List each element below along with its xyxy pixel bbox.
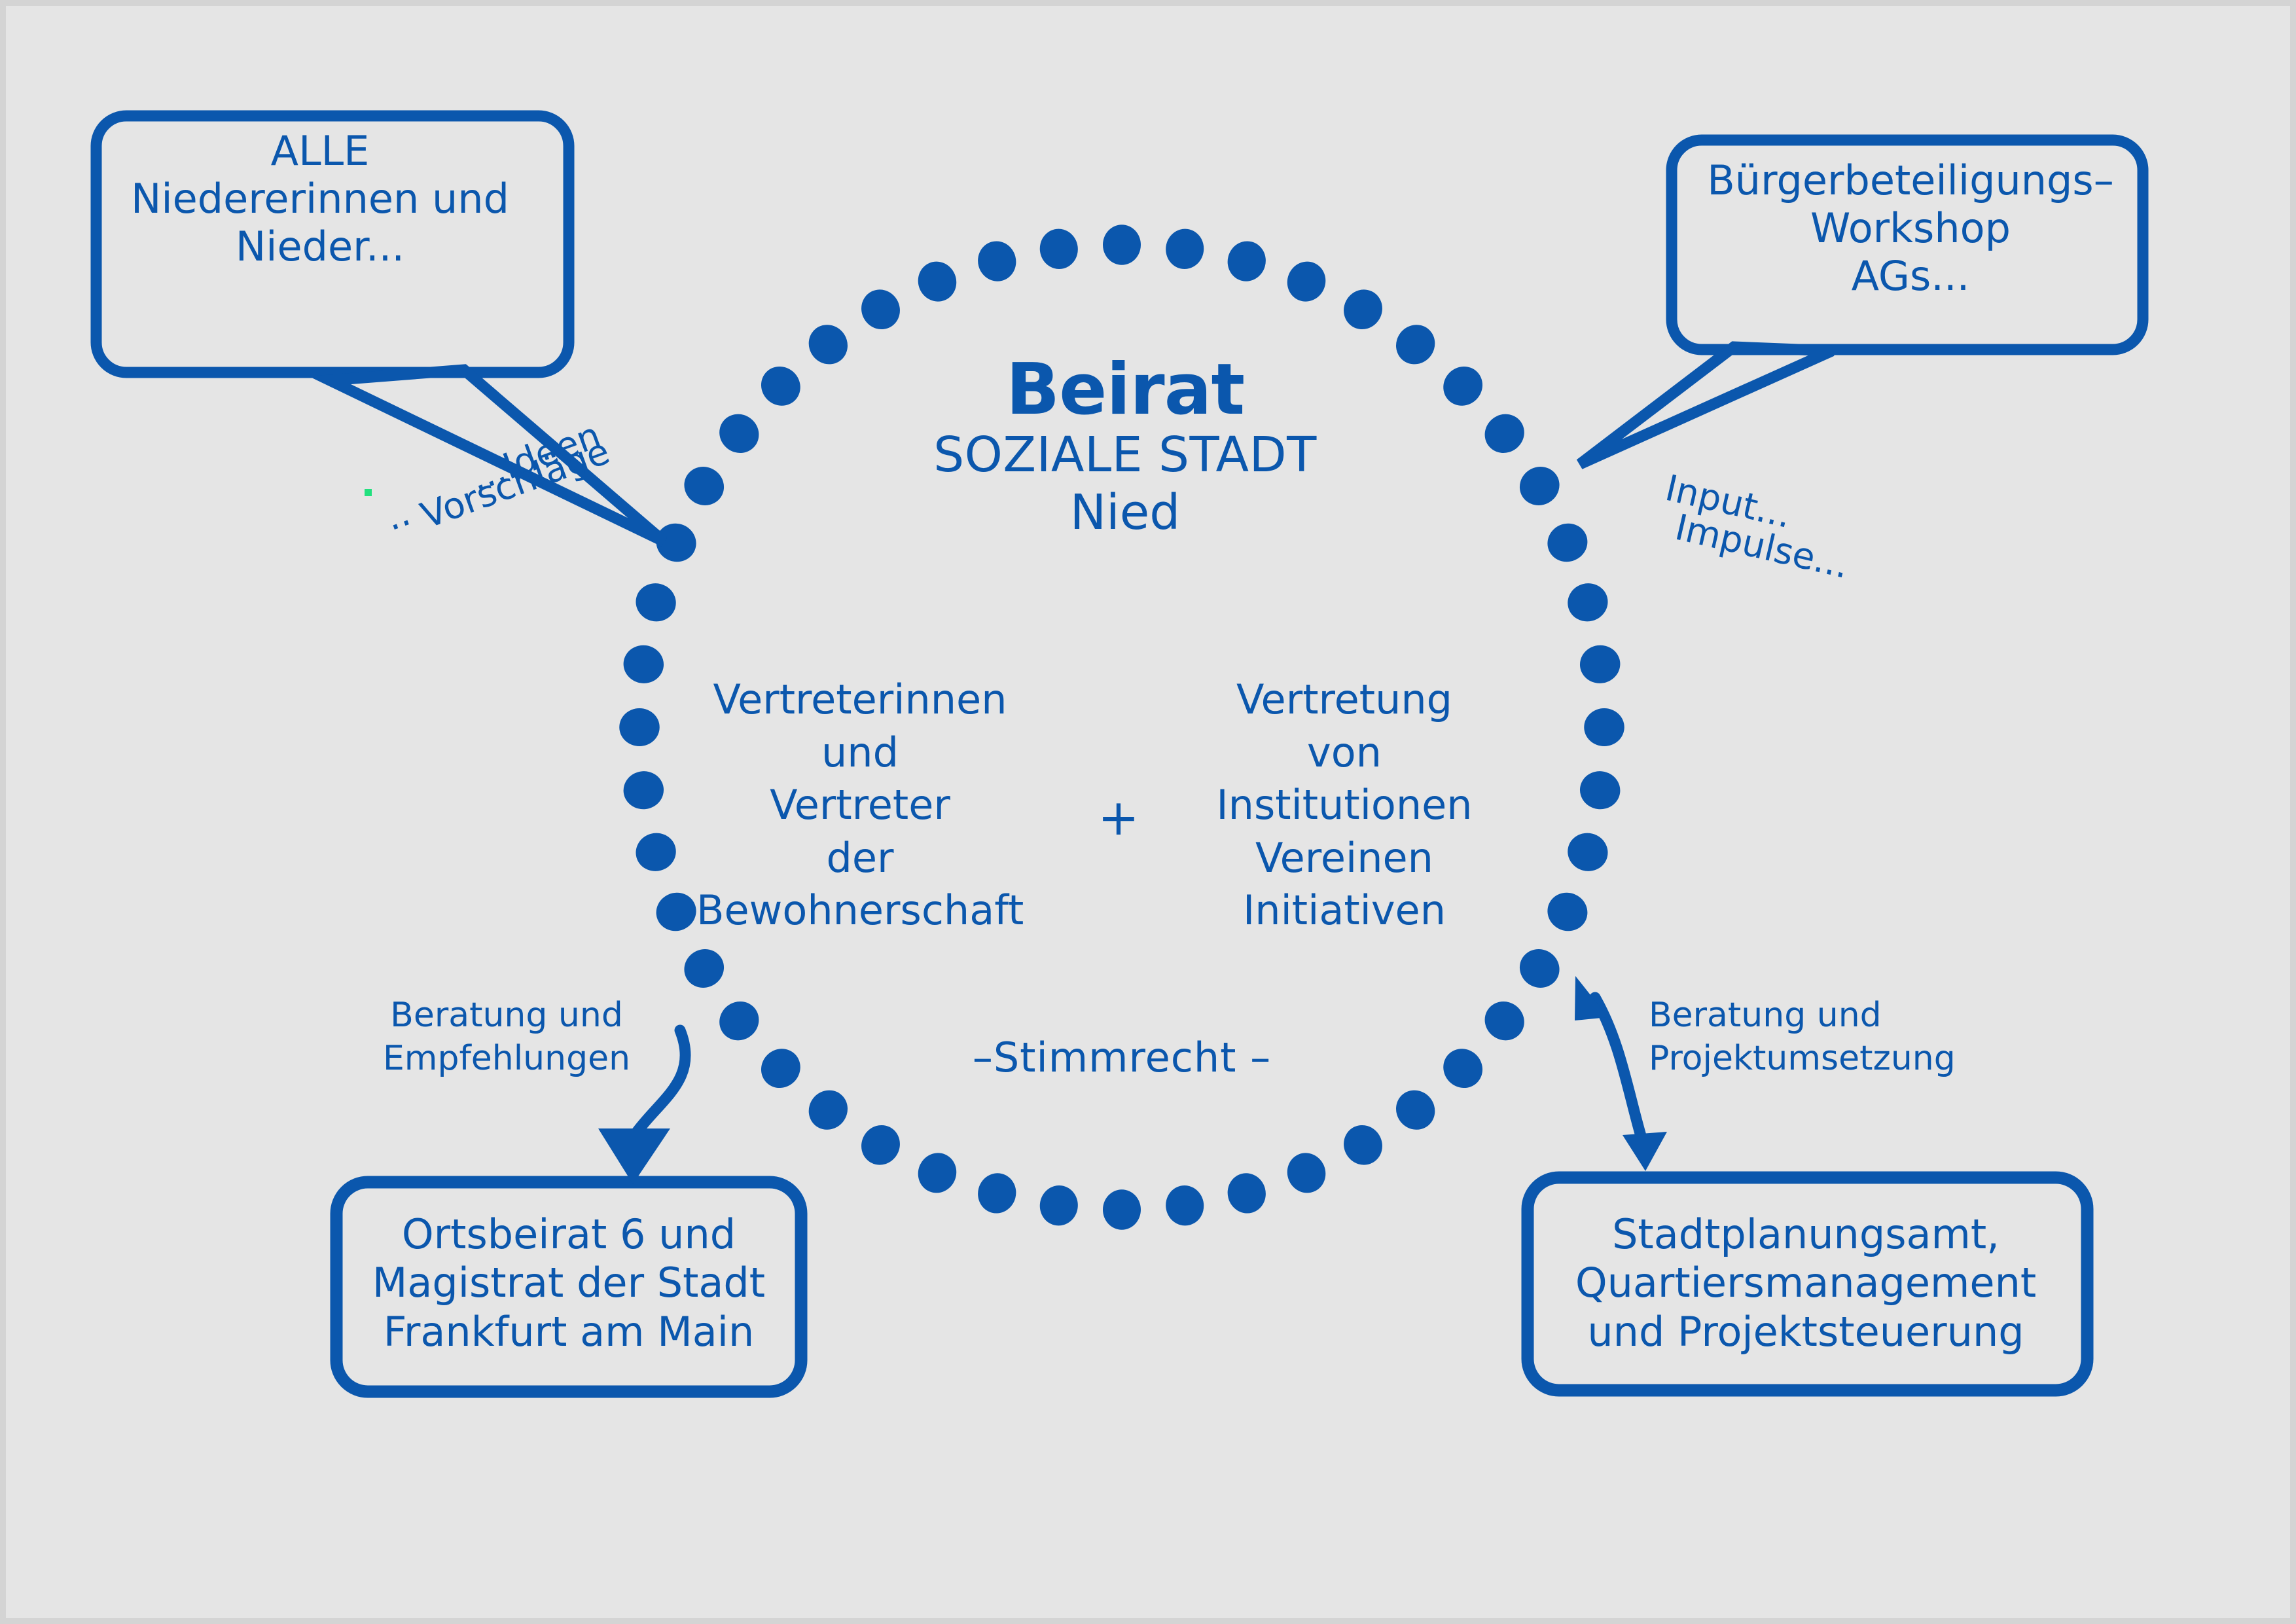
text-line: Vertreterinnen xyxy=(696,674,1024,727)
green-pixel-artifact xyxy=(365,489,372,496)
col-line: von xyxy=(1213,727,1475,780)
text-line: Ortsbeirat 6 und xyxy=(346,1210,791,1259)
label-beratung-projektumsetzung: Beratung undProjektumsetzung xyxy=(1649,994,1956,1080)
column-bewohnerschaft: VertreterinnenundVertreterderBewohnersch… xyxy=(696,674,1024,937)
text-line: Vertreter xyxy=(696,779,1024,832)
bubble-top-left-text: ALLENiedererinnen undNieder... xyxy=(91,127,549,270)
text-line: ALLE xyxy=(91,127,549,175)
text-line: Quartiersmanagement xyxy=(1537,1259,2074,1307)
text-line: Magistrat der Stadt xyxy=(346,1259,791,1307)
circle-subtitle: SOZIALE STADT xyxy=(752,427,1498,484)
text-line: Bürgerbeteiligungs– xyxy=(1685,156,2136,204)
col-line: Initiativen xyxy=(1213,884,1475,937)
text-line: und xyxy=(696,727,1024,780)
text-line: Beratung und xyxy=(1649,994,1956,1038)
circle-title-group: Beirat SOZIALE STADT Nied xyxy=(752,353,1498,541)
text-line: Nieder... xyxy=(91,223,549,270)
text-line: der xyxy=(696,832,1024,885)
col-line: Institutionen xyxy=(1213,779,1475,832)
column-institutionen: Vertretung von Institutionen Vereinen In… xyxy=(1213,674,1475,937)
col-line: Vertretung xyxy=(1213,674,1475,727)
text-line: Bewohnerschaft xyxy=(696,884,1024,937)
speech-bubble-tail-icon xyxy=(1580,347,1832,464)
voting-note: –Stimmrecht – xyxy=(939,1034,1305,1081)
diagram-canvas: ALLENiedererinnen undNieder... Bürgerbet… xyxy=(6,6,2290,1618)
circle-location: Nied xyxy=(752,484,1498,541)
text-line: Niedererinnen und xyxy=(91,175,549,223)
box-ortsbeirat-text: Ortsbeirat 6 undMagistrat der StadtFrank… xyxy=(346,1210,791,1356)
text-line: Empfehlungen xyxy=(379,1038,634,1081)
text-line: Workshop xyxy=(1685,204,2136,252)
page-title: Beirat xyxy=(752,353,1498,427)
text-line: und Projektsteuerung xyxy=(1537,1308,2074,1356)
text-line: AGs... xyxy=(1685,252,2136,300)
text-line: Beratung und xyxy=(379,994,634,1038)
box-stadtplanungsamt-text: Stadtplanungsamt,Quartiersmanagementund … xyxy=(1537,1210,2074,1356)
plus-sign: + xyxy=(1079,788,1158,846)
label-beratung-empfehlungen: Beratung undEmpfehlungen xyxy=(379,994,634,1080)
bubble-top-right-text: Bürgerbeteiligungs–WorkshopAGs... xyxy=(1685,156,2136,300)
text-line: Projektumsetzung xyxy=(1649,1038,1956,1081)
text-line: Stadtplanungsamt, xyxy=(1537,1210,2074,1259)
col-line: Vereinen xyxy=(1213,832,1475,885)
text-line: Frankfurt am Main xyxy=(346,1308,791,1356)
